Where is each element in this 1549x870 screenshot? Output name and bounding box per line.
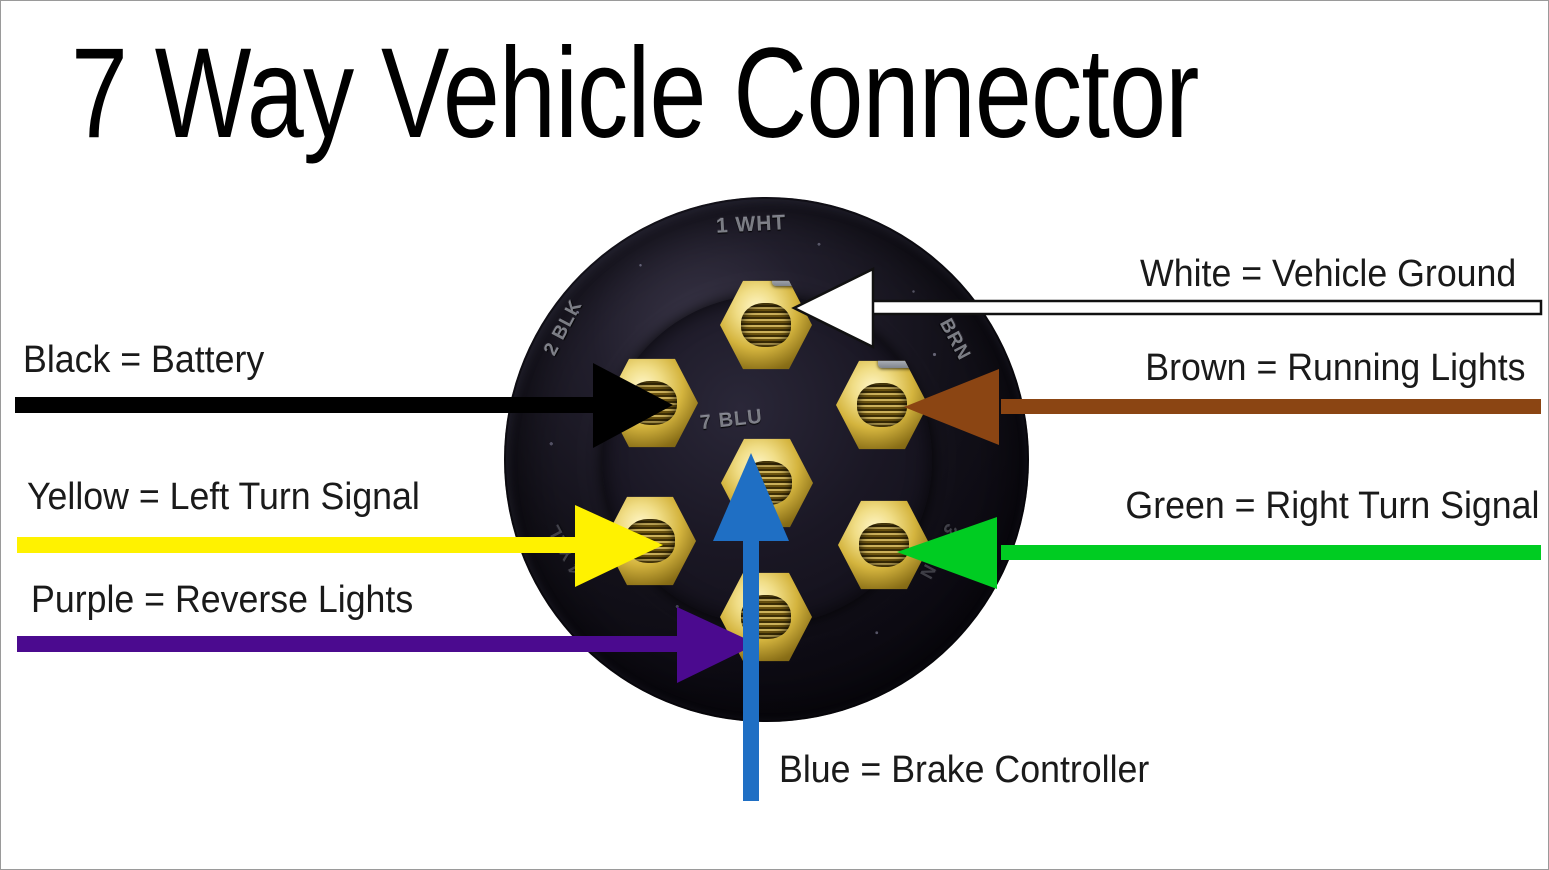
wiring-diagram-page: 7 Way Vehicle Connector 1 WHT 2 BLK 6 BR… (0, 0, 1549, 870)
terminal-screw (741, 595, 791, 639)
connector-photo: 1 WHT 2 BLK 6 BRN 7 BLU 4 YEL 3 GRN (504, 197, 1029, 722)
legend-label-blue: Blue = Brake Controller (779, 749, 1149, 792)
terminal-screw (625, 519, 675, 563)
terminal-screw (742, 461, 792, 505)
legend-label-purple: Purple = Reverse Lights (31, 579, 413, 622)
legend-label-green: Green = Right Turn Signal (1125, 485, 1539, 528)
legend-label-black: Black = Battery (23, 339, 264, 382)
terminal-screw (859, 523, 909, 567)
terminal-screw (741, 303, 791, 347)
legend-label-yellow: Yellow = Left Turn Signal (27, 476, 420, 519)
legend-label-white: White = Vehicle Ground (1140, 253, 1516, 296)
emboss-1-wht: 1 WHT (715, 211, 786, 239)
terminal-screw (627, 381, 677, 425)
page-title: 7 Way Vehicle Connector (71, 19, 1223, 179)
legend-label-brown: Brown = Running Lights (1145, 347, 1525, 390)
terminal-screw (857, 383, 907, 427)
